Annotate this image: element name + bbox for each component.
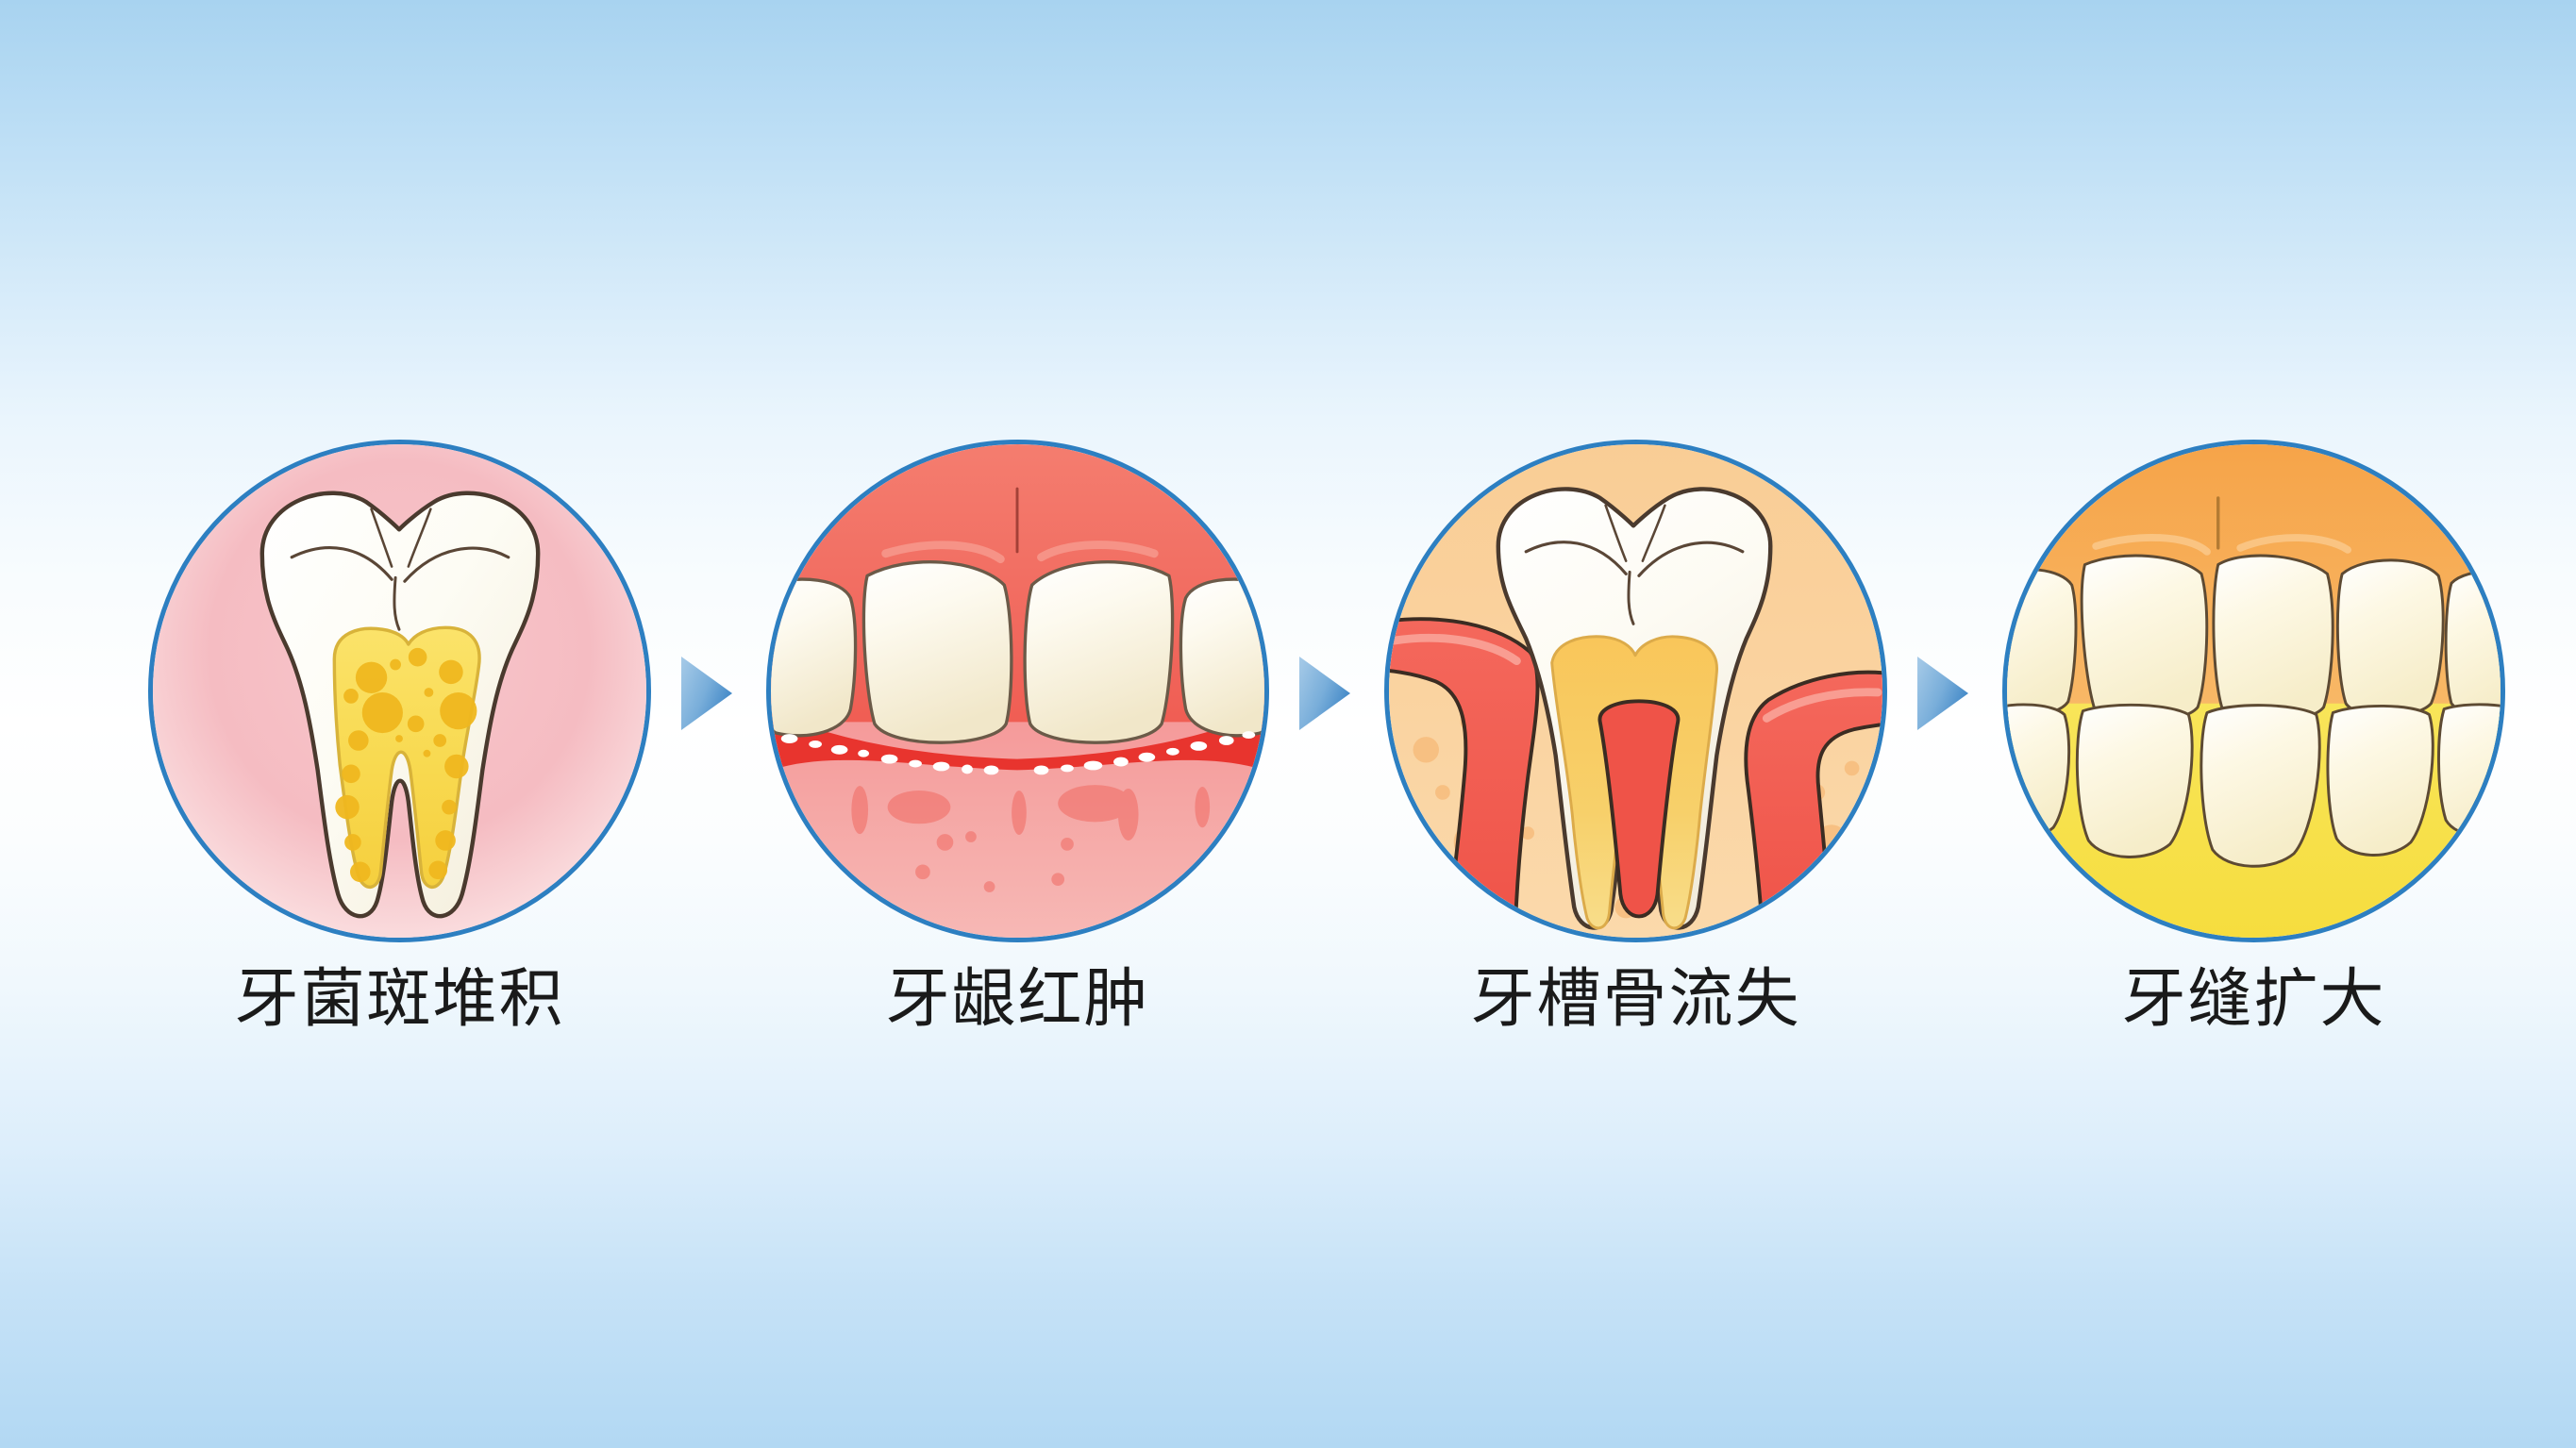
bone-loss-cross-section-icon <box>1389 444 1882 938</box>
stage-circle-3 <box>1384 440 1887 942</box>
stage-node-1[interactable]: 牙菌斑堆积 <box>148 440 651 942</box>
arrow-stage-2-to-3 <box>1297 655 1347 726</box>
stage-node-3[interactable]: 牙槽骨流失 <box>1384 440 1887 942</box>
stage-row: 牙菌斑堆积 <box>0 0 2576 1448</box>
stage-circle-4 <box>2002 440 2505 942</box>
arrow-stage-1-to-2 <box>679 655 728 726</box>
stage-node-2[interactable]: 牙龈红肿 <box>766 440 1269 942</box>
stage-caption-1: 牙菌斑堆积 <box>92 964 708 1035</box>
stage-caption-4: 牙缝扩大 <box>1946 964 2562 1035</box>
tooth-cross-section-plaque-icon <box>153 444 646 938</box>
infographic-stage: 牙菌斑堆积 <box>0 0 2576 1448</box>
stage-caption-2: 牙龈红肿 <box>710 964 1326 1035</box>
widening-gaps-icon <box>2007 444 2501 938</box>
stage-node-4[interactable]: 牙缝扩大 <box>2002 440 2505 942</box>
arrow-right-icon <box>1297 655 1352 732</box>
arrow-stage-3-to-4 <box>1915 655 1965 726</box>
stage-caption-3: 牙槽骨流失 <box>1328 964 1944 1035</box>
stage-circle-2 <box>766 440 1269 942</box>
arrow-right-icon <box>1915 655 1970 732</box>
swollen-gums-icon <box>771 444 1264 938</box>
arrow-right-icon <box>679 655 734 732</box>
stage-circle-1 <box>148 440 651 942</box>
